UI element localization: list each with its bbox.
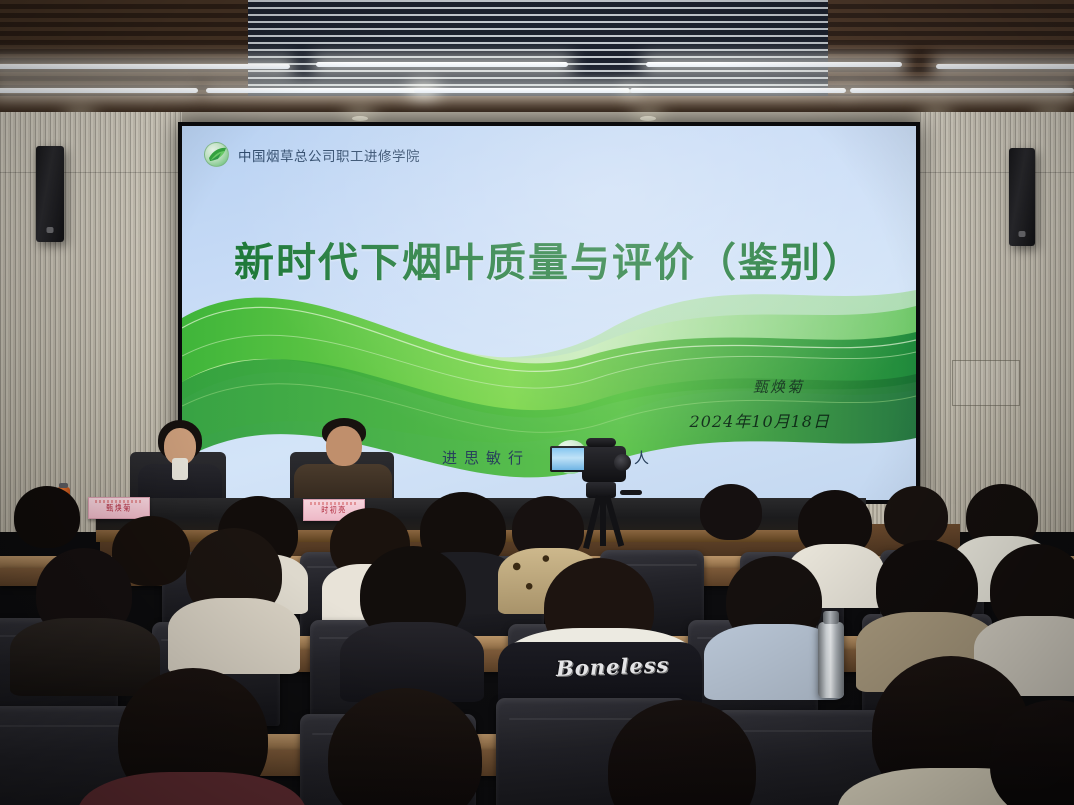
audience-person-r3-e	[990, 700, 1074, 805]
tripod-leg-right	[604, 495, 624, 547]
jacket-brand-text: Boneless	[556, 652, 670, 681]
audience-person-r2-boneless	[544, 558, 654, 658]
woman-collar	[172, 458, 188, 480]
audience-person-r2-d	[726, 556, 822, 646]
slide-date: 2024年10月18日	[690, 408, 830, 432]
ceiling-light-strip-6	[206, 88, 434, 93]
audience-person-r2-b	[186, 528, 282, 620]
ceiling-light-strip-3	[646, 62, 902, 67]
wall-seam-right	[920, 172, 1074, 173]
ceiling-light-strip-7	[414, 88, 630, 93]
ceiling-light-strip-8	[630, 88, 846, 93]
audience-person-r1-g	[700, 484, 762, 540]
audience-person-r1-h	[798, 490, 872, 558]
head-hair	[884, 486, 948, 546]
ceiling-light-strip-1	[0, 64, 290, 69]
slide-brand-row: 中国烟草总公司职工进修学院	[204, 142, 420, 167]
wall-speaker-right	[1009, 148, 1035, 246]
ceiling-beam	[0, 96, 1074, 112]
audience-person-r1-i	[884, 486, 948, 546]
audience-person-r3-a	[118, 668, 268, 805]
ceiling-light-strip-4	[936, 64, 1074, 69]
audience-person-r2-c	[360, 546, 466, 644]
ceiling-light-strip-9	[850, 88, 1074, 93]
wall-seam-left	[0, 172, 182, 173]
head-hair	[14, 486, 80, 548]
ceiling-grille-panel	[248, 0, 828, 96]
head-hair-long	[608, 700, 756, 805]
head-hair-long	[328, 688, 482, 805]
steel-thermos-bottle	[818, 622, 844, 698]
wall-right	[920, 112, 1074, 532]
head-hair-long	[990, 700, 1074, 805]
camera-lcd-screen	[550, 446, 586, 472]
audience-person-r2-f	[990, 544, 1074, 636]
downlight-3	[640, 116, 656, 121]
ceiling	[0, 0, 1074, 112]
ceiling-light-strip-5	[0, 88, 198, 93]
green-leaf-circle-logo-icon	[204, 142, 229, 167]
man-head	[326, 426, 362, 466]
name-placard-left-text: 甄焕菊	[106, 502, 132, 514]
slogan-left-text: 进思敏行	[442, 447, 530, 468]
shoulders-light	[168, 598, 300, 674]
wall-speaker-left	[36, 146, 64, 242]
audience-person-r2-a	[36, 548, 132, 640]
audience-person-r2-e	[876, 540, 978, 636]
camera-handle	[586, 438, 616, 447]
head-hair	[700, 484, 762, 540]
slide-author-name: 甄焕菊	[753, 376, 804, 397]
downlight-2	[352, 116, 368, 121]
audience-person-r3-b	[328, 688, 482, 805]
audience-person-r1-f-leopard	[512, 496, 584, 562]
camera-lens	[614, 454, 631, 471]
audience-person-r1-a	[14, 486, 80, 548]
wall-access-panel	[952, 360, 1020, 406]
audience-person-r3-c	[608, 700, 756, 805]
ceiling-light-strip-2	[316, 62, 568, 67]
tripod-pan-handle	[620, 490, 642, 495]
lecture-hall-photo: 中国烟草总公司职工进修学院 新时代下烟叶质量与评价（鉴别）	[0, 0, 1074, 805]
slide-brand-text: 中国烟草总公司职工进修学院	[238, 145, 420, 165]
